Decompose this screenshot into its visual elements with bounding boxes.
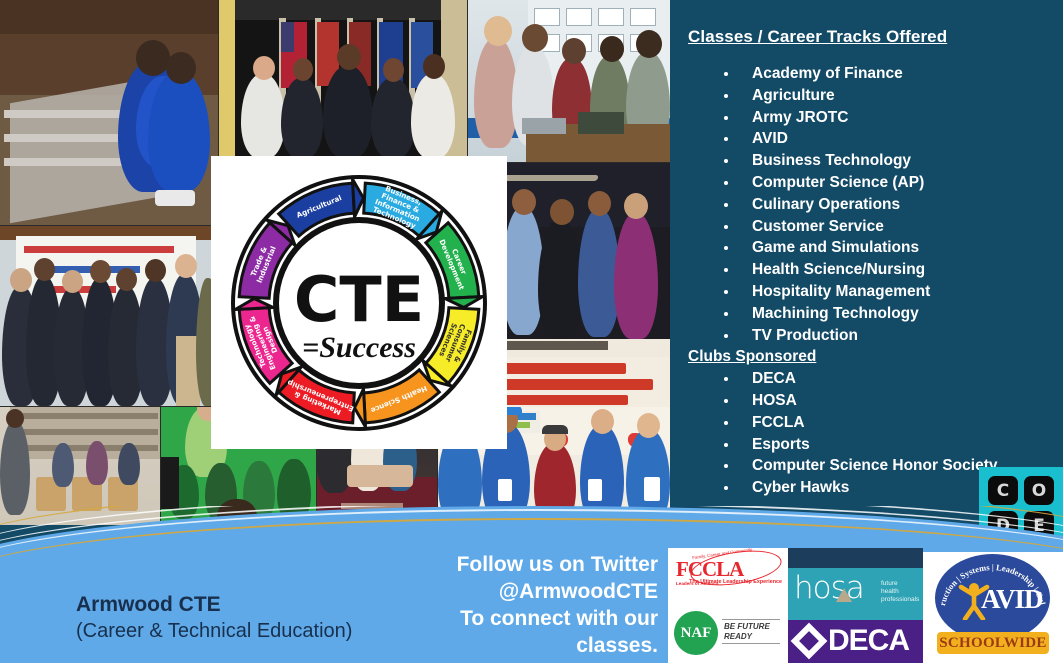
class-item: Hospitality Management (670, 281, 1063, 303)
code-letter-e: E (1024, 511, 1054, 540)
twitter-line-4: classes. (378, 632, 658, 659)
classes-heading: Classes / Career Tracks Offered (688, 27, 947, 47)
code-org-logo[interactable]: C O D E (979, 467, 1063, 549)
club-item: HOSA (670, 390, 1063, 412)
twitter-callout[interactable]: Follow us on Twitter @ArmwoodCTE To conn… (378, 551, 658, 659)
class-item: Culinary Operations (670, 194, 1063, 216)
clubs-heading: Clubs Sponsored (670, 346, 1063, 368)
fccla-logo[interactable]: Family, Career and Community FCCLA Leade… (668, 548, 788, 603)
hosa-triangle-icon (836, 588, 852, 602)
code-letter-o: O (1024, 476, 1054, 505)
cte-center-text: CTE (294, 263, 424, 336)
class-item: Customer Service (670, 216, 1063, 238)
hosa-tagline-line1: future (881, 580, 919, 588)
brand-title: Armwood CTE (76, 592, 352, 618)
twitter-handle[interactable]: @ArmwoodCTE (378, 578, 658, 605)
deca-wordmark: DECA (828, 624, 909, 658)
naf-tagline: BE FUTURE READY (724, 622, 770, 641)
naf-rule-bottom (722, 643, 780, 644)
hosa-wordmark: hosa (794, 570, 864, 606)
code-letter-d: D (988, 511, 1018, 540)
class-item: Business Technology (670, 150, 1063, 172)
photo-armwood-hawks-welcome-banner (0, 226, 218, 406)
photo-engineering-workshop (468, 0, 670, 162)
twitter-line-3: To connect with our (378, 605, 658, 632)
class-item: Army JROTC (670, 107, 1063, 129)
class-item: Academy of Finance (670, 63, 1063, 85)
avid-schoolwide-text: SCHOOLWIDE (939, 635, 1046, 652)
fccla-tagline: The Ultimate Leadership Experience (689, 579, 782, 586)
club-item: DECA (670, 368, 1063, 390)
photo-library-media-center (0, 407, 160, 525)
naf-logo[interactable]: NAF BE FUTURE READY (668, 603, 788, 663)
avid-wordmark: AVID (981, 584, 1043, 615)
class-item: Game and Simulations (670, 237, 1063, 259)
offerings-list: Academy of FinanceAgricultureArmy JROTCA… (670, 63, 1063, 499)
class-item: Computer Science (AP) (670, 172, 1063, 194)
cte-flyer: Business,Finance &InformationTechnologyC… (0, 0, 1063, 663)
hosa-logo[interactable]: hosa future health professionals (788, 548, 923, 620)
photo-jrotc-officers-flags (219, 0, 467, 157)
code-letter-c: C (988, 476, 1018, 505)
class-item: Agriculture (670, 85, 1063, 107)
naf-tagline-line2: READY (724, 632, 770, 642)
deca-logo[interactable]: DECA (788, 620, 923, 663)
brand-subtitle: (Career & Technical Education) (76, 618, 352, 645)
naf-wordmark: NAF (674, 611, 718, 655)
naf-rule-top (722, 619, 780, 620)
club-item: Esports (670, 434, 1063, 456)
cte-success-text: =Success (302, 331, 416, 364)
avid-schoolwide-banner: SCHOOLWIDE (937, 632, 1049, 654)
avid-logo[interactable]: Instruction | Systems | Leadership | Cul… (923, 552, 1063, 663)
naf-tagline-line1: BE FUTURE (724, 622, 770, 632)
hosa-tagline: future health professionals (881, 580, 919, 604)
hosa-top-strip (788, 548, 923, 568)
cte-success-logo: Business,Finance &InformationTechnologyC… (211, 156, 507, 449)
cte-wheel-icon: Business,Finance &InformationTechnologyC… (227, 171, 491, 435)
class-item: TV Production (670, 325, 1063, 347)
photo-collage: Business,Finance &InformationTechnologyC… (0, 0, 670, 525)
twitter-line-1: Follow us on Twitter (378, 551, 658, 578)
class-item: Machining Technology (670, 303, 1063, 325)
brand-block: Armwood CTE (Career & Technical Educatio… (76, 592, 352, 645)
photo-health-science-nursing (0, 0, 218, 225)
class-item: AVID (670, 128, 1063, 150)
club-item: FCCLA (670, 412, 1063, 434)
hosa-tagline-line2: health (881, 588, 919, 596)
class-item: Health Science/Nursing (670, 259, 1063, 281)
hosa-tagline-line3: professionals (881, 596, 919, 604)
